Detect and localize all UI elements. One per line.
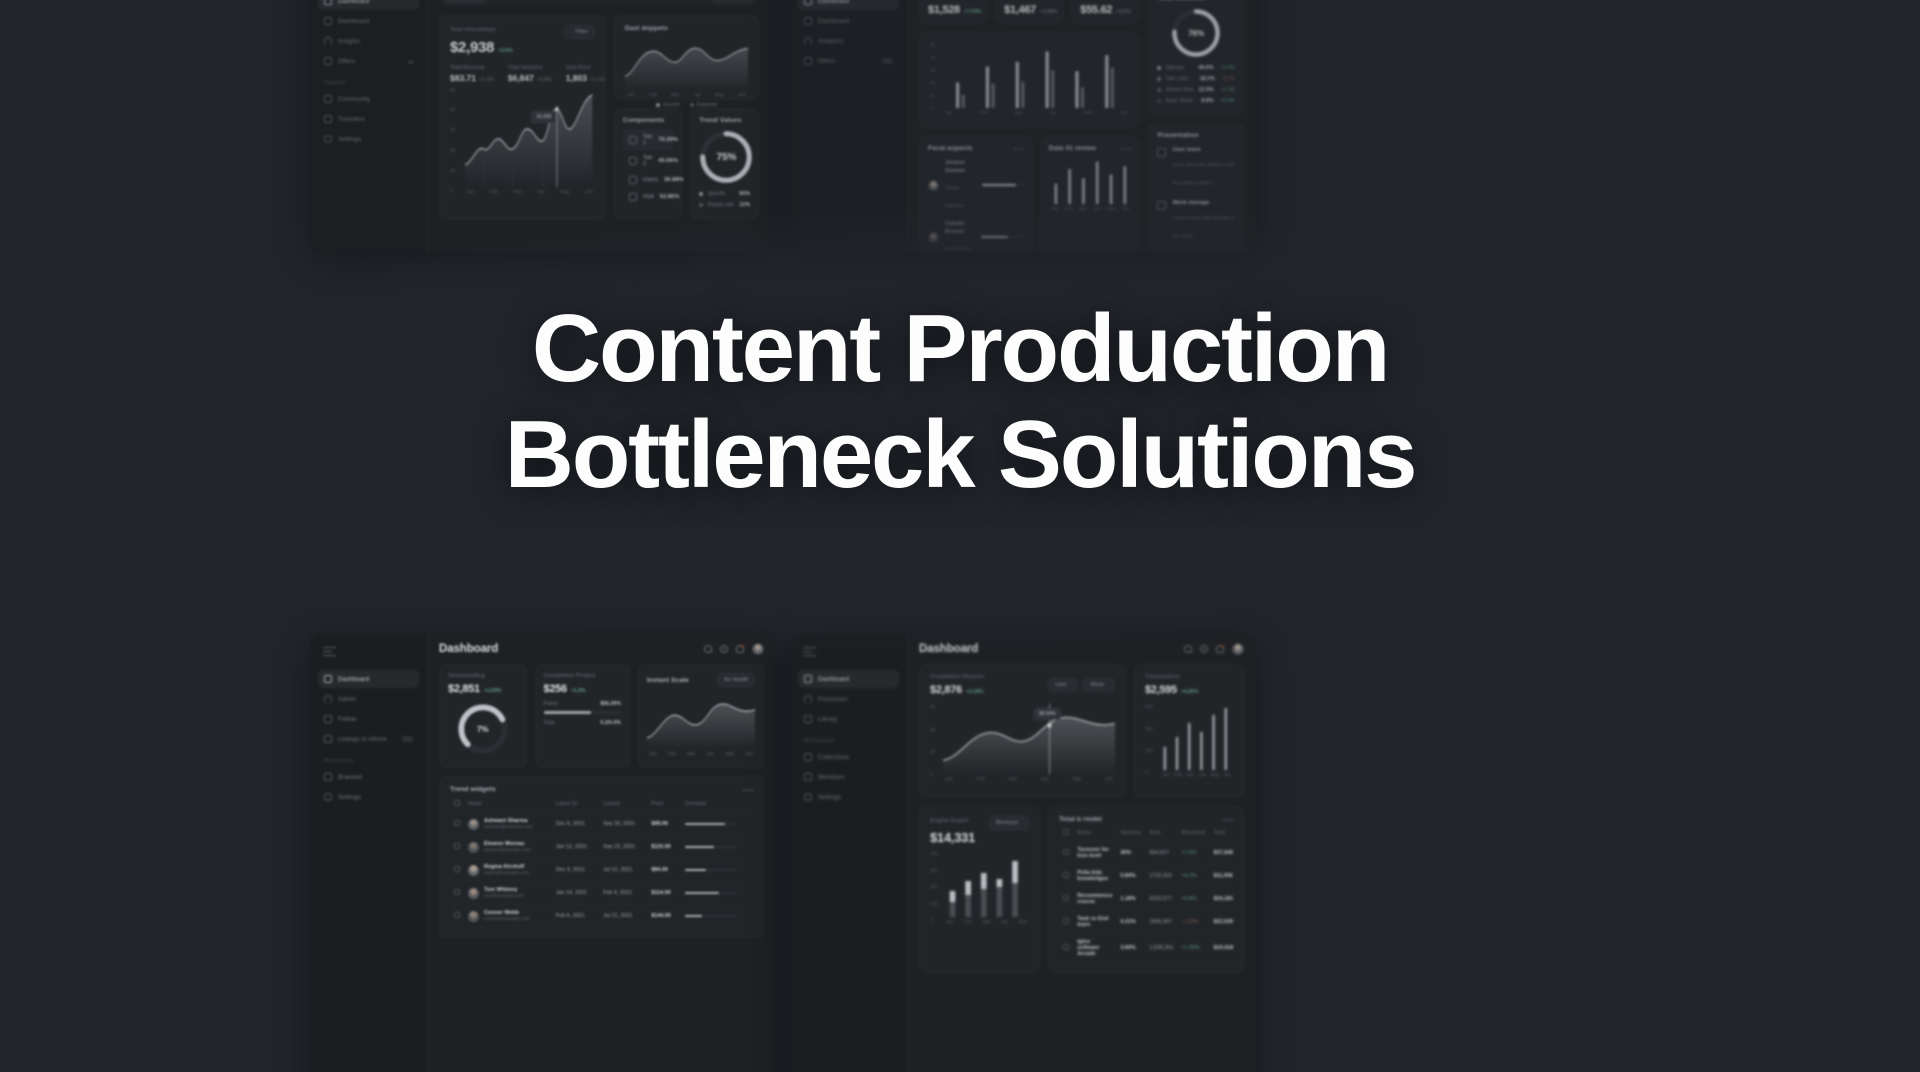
grid-icon — [324, 0, 332, 5]
main-content-bottom-right: Dashboard Completion Reports $2,876+2.19… — [908, 634, 1255, 1072]
sidebar-item-processes[interactable]: Processes — [798, 690, 899, 708]
sidebar-item-follow[interactable]: Follow — [318, 710, 419, 728]
period-filter[interactable]: for month — [717, 673, 755, 687]
gauge-legend-row: Basic Week8.8%+0.4% — [1157, 95, 1235, 106]
substat-delta: +0.8% — [537, 77, 552, 83]
progress-value: $56.39% — [600, 701, 620, 707]
sidebar-item-label: Analytics — [818, 38, 844, 45]
cell-name: Pella kids knowledges — [1073, 865, 1116, 888]
tab-united-data[interactable]: United Data — [603, 0, 650, 3]
avatar[interactable] — [752, 643, 764, 655]
sidebar-item-branded[interactable]: Branded — [318, 768, 419, 786]
person-role: Design Engineer — [945, 186, 964, 209]
hero-delta: +2.19% — [966, 689, 983, 695]
stat-label: Transactions — [1145, 674, 1233, 680]
component-value: 45.06% — [658, 158, 678, 164]
progress-bar — [981, 236, 1024, 238]
sidebar-item-settings[interactable]: Settings — [318, 788, 419, 806]
file-icon — [804, 773, 812, 781]
gauge-legend-row: Signups49.6%+2.2% — [1157, 62, 1235, 73]
folder-icon — [324, 57, 332, 65]
components-title: Components — [623, 117, 674, 124]
gauge-value: 75% — [699, 130, 753, 184]
component-name: Visit — [643, 194, 654, 200]
table-row[interactable]: Tom Whitneytom@example.com Jan 14, 2021 … — [450, 882, 753, 905]
customer-gauge: 76% — [1171, 8, 1221, 58]
revenue-filter-label: Revenue — [996, 820, 1018, 826]
column-header: Price — [647, 796, 680, 813]
square-icon — [629, 176, 637, 184]
row-checkbox[interactable] — [454, 866, 460, 872]
cell-price: $144.00 — [647, 905, 680, 928]
table-title: Total b rmdet — [1059, 816, 1102, 823]
stat-card-timestamps: Total timestamps $1,467+1.58% — [995, 0, 1064, 24]
item-desc: Connect your data storage to the group — [1172, 216, 1234, 239]
filter-button[interactable]: Filter — [564, 25, 594, 39]
sidebar-section-label: Workspace — [804, 738, 899, 744]
more-icon[interactable] — [743, 789, 753, 791]
column-header: Overview — [681, 796, 753, 813]
avatar[interactable] — [1232, 643, 1244, 655]
hero-label: Completion Reports — [930, 674, 984, 680]
bell-icon[interactable] — [1216, 645, 1224, 653]
cell-price: $84.00 — [647, 859, 680, 882]
sidebar-top-right: Dashboard Dashboard Analytics Offers — [790, 0, 908, 252]
substat-sessions: Total Sessions $6,847+0.8% — [508, 65, 552, 83]
list-item[interactable]: Johanni DownesDesign Engineer — [928, 155, 1024, 216]
folder-icon — [804, 57, 812, 65]
revenue-filter[interactable]: Revenue — [989, 816, 1029, 830]
cell-movement: +1.90% — [1177, 934, 1209, 963]
row-checkbox[interactable] — [454, 912, 460, 918]
cards-grid: Total timestamps Filter $2,938 +3.5% Tot… — [439, 15, 759, 220]
sidebar-item-label: Admin — [338, 696, 356, 703]
stat-delta: +1.58% — [1040, 9, 1057, 15]
progress-label: Total — [544, 720, 555, 726]
income-value: $14,331 — [930, 830, 1029, 845]
stat-label: Sessions/Avg — [448, 673, 518, 679]
sidebar-item-label: Branded — [338, 774, 362, 781]
sidebar-item-dashboard[interactable]: Dashboard — [318, 0, 419, 10]
stat-label: Completion Project — [544, 673, 621, 679]
stat-delta: +4.26% — [1181, 689, 1198, 695]
user-icon — [804, 37, 812, 45]
gear-icon — [324, 135, 332, 143]
user-email: ashwani@example.com — [484, 824, 533, 829]
avatar — [468, 819, 479, 830]
person-name: Celeste Browne — [945, 220, 975, 237]
table-row[interactable]: Recommence course 1.18% 4122,577 +4.8% $… — [1059, 888, 1237, 911]
hero-value: $2,876 — [930, 684, 962, 696]
cell-sessions: 0.84% — [1116, 865, 1145, 888]
cell-name: Igloo software Arcade — [1073, 934, 1116, 963]
sidebar-item-label: Follow — [338, 716, 356, 723]
trend-gauge: 75% — [699, 130, 753, 184]
x-axis: Jan Feb Mar Apr May Jun — [625, 90, 748, 98]
title-line-2: Bottleneck Solutions — [505, 401, 1416, 508]
table-row[interactable]: Task vs End learn 0.21% 1005,307 -1.20% … — [1059, 911, 1237, 934]
show-filter[interactable]: Show — [1083, 678, 1115, 692]
total-table-card: Total b rmdet Name Sessions Sent Movemen… — [1048, 806, 1244, 973]
more-icon[interactable] — [1121, 148, 1131, 150]
stat-card-revenue: Revenue $55.62+3.2% — [1071, 0, 1140, 24]
sidebar-item-admin[interactable]: Admin — [318, 690, 419, 708]
page-title: Content Production Bottleneck Solutions — [0, 296, 1920, 507]
completion-card: Completion Project $256+1.3% Points $56.… — [535, 664, 630, 768]
sidebar-item-settings[interactable]: Settings — [318, 130, 419, 148]
sidebar-item-label: Dashboard — [338, 676, 369, 683]
hero-value-row: $2,938 +3.5% — [450, 39, 595, 56]
stat-delta: +7.54% — [964, 9, 981, 15]
sidebar-section-label: Support — [324, 80, 419, 86]
table-row[interactable]: Conner Webbconner@example.com Feb 6, 202… — [450, 905, 753, 928]
substat-value: 1,803 — [566, 73, 587, 83]
row-checkbox[interactable] — [1063, 895, 1069, 901]
row-checkbox[interactable] — [454, 820, 460, 826]
topbar-icons — [704, 643, 764, 655]
sidebar-item-dashboard[interactable]: Dashboard — [798, 670, 899, 688]
y-axis: 60 50 40 30 20 0 — [450, 87, 455, 193]
sidebar-item-analytics[interactable]: Analytics — [798, 32, 899, 50]
substat-value: $6,847 — [508, 73, 534, 83]
main-content-top-left: Dashboard Dashboard Latest Stories Finan… — [428, 0, 770, 252]
cell-sent: 564,917 — [1145, 842, 1177, 865]
sidebar-item-label: Offers — [818, 58, 835, 65]
substat-delta: +1.2% — [479, 77, 494, 83]
color-filter-label: color — [1055, 682, 1067, 688]
table-row[interactable]: Regina Kirchoffregina@example.com Dec 4,… — [450, 859, 753, 882]
row-checkbox[interactable] — [1063, 918, 1069, 924]
more-icon[interactable] — [1014, 148, 1024, 150]
overview-bar — [685, 823, 737, 825]
avatar — [468, 842, 479, 853]
sidebar-item-label: Members — [818, 774, 845, 781]
sidebar-item-label: Dashboard — [338, 0, 369, 5]
cell-sent: 1,635,301 — [1145, 934, 1177, 963]
sidebar-item-insights[interactable]: Insights — [318, 32, 419, 50]
presentation-card: Presentation User learnLearn about the p… — [1148, 123, 1244, 252]
sidebar-item-community[interactable]: Community — [318, 90, 419, 108]
component-value: 52.86% — [660, 194, 680, 200]
main-content-top-right: Dashboard Total price $1,528+7.54% Total… — [908, 0, 1255, 252]
storage-icon — [1157, 201, 1166, 210]
sidebar-item-label: Settings — [338, 794, 361, 801]
user-email: tom@example.com — [484, 893, 524, 898]
component-row[interactable]: Visit 52.86% — [623, 188, 674, 205]
x-axis: Jan Feb Mar Apr May Jun — [647, 749, 755, 757]
stat-value: $55.62 — [1080, 4, 1112, 16]
column-header: Sent — [1145, 825, 1177, 842]
total-customer-card: Total customer 76% Signups49.6%+2.2% Sal… — [1148, 0, 1244, 115]
lock-icon — [324, 95, 332, 103]
hero-value: $2,938 — [450, 39, 494, 56]
progress-bar — [544, 711, 621, 714]
stat-value: $1,467 — [1004, 4, 1036, 16]
sidebar-item-label: Settings — [818, 794, 841, 801]
sidebar-bottom-left: Dashboard Admin Follow Listings to infor… — [310, 634, 428, 1072]
tab-finance-planet[interactable]: Finance Planet — [545, 0, 600, 3]
lock-icon — [804, 753, 812, 761]
cell-total: $11,056 — [1210, 865, 1238, 888]
cell-lastest: Sep 20, 2021 — [599, 813, 647, 836]
cell-total: $22,526 — [1210, 911, 1238, 934]
trend-values-card: Trend Values 75% Specific50% Supply rate… — [690, 108, 759, 219]
avatar — [928, 232, 939, 243]
row-checkbox[interactable] — [1063, 944, 1069, 950]
cell-movement: -1.20% — [1177, 911, 1209, 934]
people-card: Fecal aspects Johanni DownesDesign Engin… — [919, 136, 1033, 252]
avatar — [468, 911, 479, 922]
stat-value: $2,595 — [1145, 684, 1177, 696]
list-item[interactable]: User learnLearn about the platform and i… — [1157, 142, 1235, 195]
component-row[interactable]: Users 36.88% — [623, 171, 674, 188]
user-icon — [324, 695, 332, 703]
page-title: Dashboard — [439, 643, 498, 655]
row-checkbox[interactable] — [454, 843, 460, 849]
table-row[interactable]: Igloo software Arcade 3.60% 1,635,301 +1… — [1059, 934, 1237, 963]
sidebar-bottom-right: Dashboard Processes Library Workspace Co… — [790, 634, 908, 1072]
instant-scale-card: Instant Scale for month Jan Feb Mar — [638, 664, 764, 768]
presentation-title: Presentation — [1157, 132, 1235, 139]
y-axis: 400 300 200 100 0 — [930, 851, 938, 922]
cell-sent: 4122,577 — [1145, 888, 1177, 911]
cell-total: $19,418 — [1210, 934, 1238, 963]
list-item[interactable]: Mockit PluginExtend your workflow with p… — [1157, 248, 1235, 252]
data-card-title: Data 41 review — [1049, 145, 1096, 152]
cards-grid: Total price $1,528+7.54% Total timestamp… — [919, 0, 1244, 252]
item-title: User learn — [1172, 147, 1235, 153]
cell-latest: Jan 14, 2021 — [552, 882, 599, 905]
sidebar-item-label: Dashboard — [818, 0, 849, 5]
column-header: Latest 10 — [552, 796, 599, 813]
x-axis: Jan Feb Mar Apr May — [944, 917, 1029, 925]
chart-icon — [324, 17, 332, 25]
x-axis: Jan Feb Mar Apr May Jun — [464, 187, 595, 195]
sidebar-item-dashboard[interactable]: Dashboard — [318, 670, 419, 688]
cell-latest: Dec 6, 2021 — [552, 813, 599, 836]
sidebar-item-dashboard[interactable]: Dashboard — [798, 0, 899, 10]
list-item[interactable]: Celeste BrowneCoordinator — [928, 216, 1024, 252]
more-icon[interactable] — [1223, 819, 1233, 821]
total-table: Name Sessions Sent Movement Total Turnov… — [1059, 825, 1237, 963]
component-row[interactable]: Tab 2 45.06% — [623, 150, 674, 171]
daily-card-title: Dast doppets — [625, 25, 748, 32]
component-name: Users — [643, 177, 658, 183]
gauge-value: 76% — [1171, 8, 1221, 58]
gear-icon — [324, 793, 332, 801]
tab-latest-stories[interactable]: Latest Stories — [490, 0, 542, 3]
cell-sent: 1732,310 — [1145, 865, 1177, 888]
hero-delta: +3.5% — [498, 48, 513, 54]
trend-widgets-table: Name Latest 10 Lastest Price Overview As… — [450, 796, 753, 928]
column-header: Name — [1073, 825, 1116, 842]
people-list: Johanni DownesDesign Engineer Celeste Br… — [928, 155, 1024, 252]
square-icon — [629, 136, 637, 144]
gear-icon — [804, 793, 812, 801]
item-title: Work storage — [1172, 200, 1235, 206]
main-content-bottom-left: Dashboard Sessions/Avg $2,851+1.63% 7% — [428, 634, 775, 1072]
column-header: Total — [1210, 825, 1238, 842]
sidebar-item-offers[interactable]: Offers — [798, 52, 899, 70]
page-title: Dashboard — [919, 643, 978, 655]
grid-icon — [324, 675, 332, 683]
row-checkbox[interactable] — [1063, 849, 1069, 855]
sidebar-item-library[interactable]: Library — [798, 710, 899, 728]
item-desc: Learn about the platform and its growth … — [1172, 163, 1234, 186]
table-row[interactable]: Pella kids knowledges 0.84% 1732,310 +4.… — [1059, 865, 1237, 888]
date-filter-button[interactable]: Date — [711, 0, 755, 3]
component-row[interactable]: Tab 1 70.39% — [623, 129, 674, 150]
hero-label: Total timestamps — [450, 27, 496, 33]
person-name: Johanni Downes — [945, 159, 976, 176]
x-axis: Jan Feb Mar Apr May Jun — [943, 108, 1129, 116]
hero-card: Total timestamps Filter $2,938 +3.5% Tot… — [439, 15, 606, 220]
sidebar-item-members[interactable]: Members — [798, 768, 899, 786]
cell-latest: Dec 4, 2021 — [552, 859, 599, 882]
topbar-icons — [1184, 643, 1244, 655]
sidebar-item-collections[interactable]: Collections — [798, 748, 899, 766]
bell-icon[interactable] — [736, 645, 744, 653]
column-header: Lastest — [599, 796, 647, 813]
table-row[interactable]: Turnover for less level 30% 564,917 +7.6… — [1059, 842, 1237, 865]
stat-delta: +3.2% — [1116, 9, 1131, 15]
cell-sessions: 3.60% — [1116, 934, 1145, 963]
sessions-card: Sessions/Avg $2,851+1.63% 7% — [439, 664, 527, 768]
chart-tooltip: 38.54% — [1034, 708, 1061, 720]
daily-area-chart: Jan Feb Mar Apr May Jun Income Expense — [625, 38, 748, 90]
overview-bar — [685, 869, 737, 871]
table-header-row: Name Latest 10 Lastest Price Overview — [450, 796, 753, 813]
sidebar-item-label: Community — [338, 96, 370, 103]
y-axis: 60 40 20 0 — [930, 704, 935, 777]
cell-lastest: Jul 21, 2021 — [599, 905, 647, 928]
sub-stats: Total Revenue $83.71+1.2% Total Sessions… — [450, 65, 595, 83]
row-checkbox[interactable] — [454, 889, 460, 895]
tab-bar: Dashboard Latest Stories Finance Planet … — [439, 0, 759, 6]
chart-tooltip: 15,930 — [531, 111, 556, 123]
table-row[interactable]: Ashwani Sharmaashwani@example.com Dec 6,… — [450, 813, 753, 836]
search-icon[interactable] — [1184, 645, 1192, 653]
file-icon — [324, 115, 332, 123]
cell-movement: +4.2% — [1177, 865, 1209, 888]
avatar — [928, 180, 939, 191]
table-row[interactable]: Eleanor Moreaueleanor@example.com Jan 12… — [450, 836, 753, 859]
sidebar-item-label: Dashboard — [338, 18, 369, 25]
cell-name: Turnover for less level — [1073, 842, 1116, 865]
cell-sessions: 30% — [1116, 842, 1145, 865]
cell-name: Task vs End learn — [1073, 911, 1116, 934]
substat-label: Total Revenue — [450, 65, 494, 71]
plus-icon — [1157, 148, 1166, 157]
x-axis: Jan Feb Mar Apr May Jun — [1049, 204, 1132, 212]
cell-lastest: Sep 22, 2021 — [599, 836, 647, 859]
sidebar-item-listings[interactable]: Listings to inform — [318, 730, 419, 748]
substat-delta: +2.1% — [590, 77, 605, 83]
substat-label: Sum Price — [566, 65, 605, 71]
color-filter[interactable]: color — [1048, 678, 1078, 692]
cell-name: Recommence course — [1073, 888, 1116, 911]
user-icon — [804, 695, 812, 703]
select-all-checkbox[interactable] — [1063, 829, 1069, 835]
cell-latest: Feb 6, 2021 — [552, 905, 599, 928]
title-line-1: Content Production — [532, 295, 1388, 402]
avatar — [468, 888, 479, 899]
sidebar-item-dashboard-2[interactable]: Dashboard — [318, 12, 419, 30]
bar-chart: 50 40 30 20 10 0 — [930, 42, 1129, 122]
sidebar-item-dashboard-2[interactable]: Dashboard — [798, 12, 899, 30]
select-all-checkbox[interactable] — [454, 800, 460, 806]
gear-icon[interactable] — [1200, 645, 1208, 653]
completion-reports-card: Completion Reports $2,876+2.19% color Sh… — [919, 664, 1126, 798]
status-badge — [882, 58, 893, 64]
substat-label: Total Sessions — [508, 65, 552, 71]
dashboard-mockup-bottom-right: Dashboard Processes Library Workspace Co… — [790, 634, 1255, 1072]
lock-icon — [324, 773, 332, 781]
dashboard-mockup-top-left: Dashboard Dashboard Insights Offers Supp… — [310, 0, 770, 252]
menu-icon[interactable] — [323, 647, 336, 656]
overview-bar — [685, 846, 737, 848]
progress-label: Points — [544, 701, 558, 707]
search-icon[interactable] — [704, 645, 712, 653]
hero-area-chart: 60 40 20 0 38.54% — [930, 704, 1115, 788]
list-item[interactable]: Work storageConnect your data storage to… — [1157, 195, 1235, 248]
gauge-card-title: Total customer — [1157, 0, 1235, 2]
square-icon — [629, 157, 637, 165]
sidebar-item-settings[interactable]: Settings — [798, 788, 899, 806]
menu-icon[interactable] — [803, 647, 816, 656]
daily-card: Dast doppets Jan Feb Mar — [614, 15, 759, 100]
cell-sessions: 0.21% — [1116, 911, 1145, 934]
sidebar-item-label: Library — [818, 716, 838, 723]
gauge-legend: Signups49.6%+2.2% Sale rates18.2%-0.7% S… — [1157, 62, 1235, 106]
sidebar-item-offers[interactable]: Offers — [318, 52, 419, 70]
tab-dashboard[interactable]: Dashboard — [443, 0, 487, 3]
sidebar-item-label: Processes — [818, 696, 848, 703]
chevron-down-icon — [408, 58, 414, 64]
cell-movement: +4.8% — [1177, 888, 1209, 911]
slide-title-wrap: Content Production Bottleneck Solutions — [0, 296, 1920, 507]
sessions-gauge: 7% — [457, 703, 509, 755]
progress-bar — [982, 184, 1024, 186]
sidebar-section-label: Resources — [324, 758, 419, 764]
table-title: Trend widgets — [450, 786, 496, 793]
people-card-title: Fecal aspects — [928, 145, 973, 152]
chart-legend: Income Expense — [625, 102, 748, 108]
row-checkbox[interactable] — [1063, 872, 1069, 878]
toggle-switch[interactable] — [402, 736, 413, 742]
user-icon — [324, 37, 332, 45]
cell-latest: Jan 12, 2021 — [552, 836, 599, 859]
tab-revenue[interactable]: Revenue — [653, 0, 692, 3]
chart-icon — [324, 735, 332, 743]
engine-export-card: Engine Export Revenue $14,331 400 300 20… — [919, 806, 1040, 973]
gauge-legend-row: Supply rate11% — [699, 199, 750, 210]
stat-value: $1,528 — [928, 4, 960, 16]
filter-label: Filter — [575, 29, 587, 35]
gauge-legend-row: Specific50% — [699, 188, 750, 199]
stat-value: $256 — [544, 683, 567, 695]
chart-icon — [804, 17, 812, 25]
sidebar-item-transfers[interactable]: Transfers — [318, 110, 419, 128]
avatar — [468, 865, 479, 876]
sidebar-item-label: Offers — [338, 58, 355, 65]
income-label: Engine Export — [930, 818, 968, 824]
gear-icon[interactable] — [720, 645, 728, 653]
dashboard-mockup-top-right: Dashboard Dashboard Analytics Offers Das… — [790, 0, 1255, 252]
square-icon — [629, 193, 637, 201]
instant-area-chart: Jan Feb Mar Apr May Jun — [647, 693, 755, 755]
cell-sent: 1005,307 — [1145, 911, 1177, 934]
